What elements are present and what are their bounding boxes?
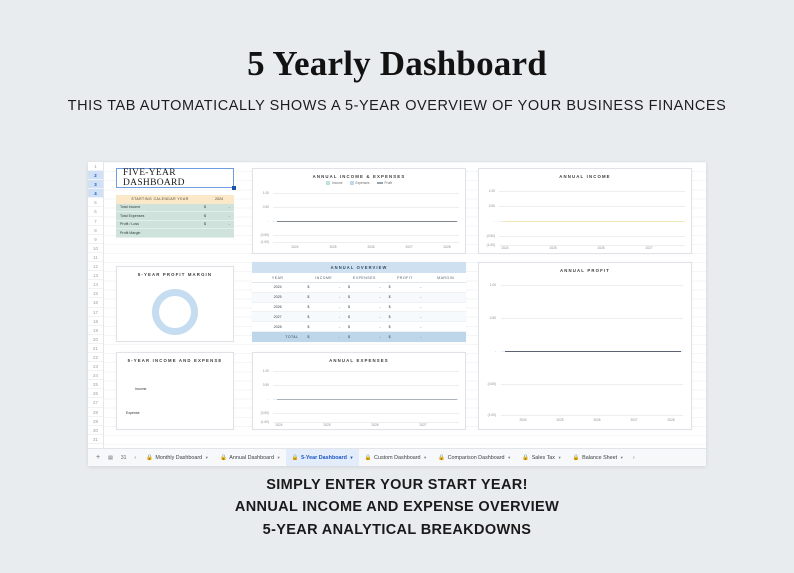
page-root: 5 Yearly Dashboard THIS TAB AUTOMATICALL… (0, 44, 794, 573)
cell-expenses: $- (344, 285, 385, 289)
lock-icon: 🔒 (146, 455, 153, 461)
cell-value: - (350, 305, 381, 309)
dashboard-title-cell[interactable]: FIVE-YEAR DASHBOARD (116, 168, 234, 188)
footer-callouts: SIMPLY ENTER YOUR START YEAR! ANNUAL INC… (0, 474, 794, 541)
x-tick-label: 2024 (275, 423, 282, 427)
cell-expenses: $- (344, 295, 385, 299)
summary-row-value: - (216, 214, 234, 218)
cell-year: 2026 (252, 305, 303, 309)
table-row: Total Income $ - (116, 204, 234, 213)
sheet-tab-bar[interactable]: + ▤ 31 ‹ 🔒 Monthly Dashboard ▾ 🔒 Annual … (88, 448, 706, 466)
sheet-tab-label: Comparison Dashboard (448, 455, 505, 461)
chart-plot-area: 1.00 0.50 - (0.50) (1.00) 2024 2025 2026… (253, 169, 465, 253)
cell-value: - (391, 295, 422, 299)
cell-year: 2027 (252, 315, 303, 319)
cell-value: - (391, 305, 422, 309)
sheet-tab-label: Custom Dashboard (374, 455, 420, 461)
all-sheets-icon[interactable]: ▤ (104, 455, 117, 461)
row-number[interactable]: 6 (88, 207, 103, 216)
table-row: Profit Margin (116, 229, 234, 238)
chart-card-income-expense[interactable]: 5-YEAR INCOME AND EXPENSE Income Expense (116, 352, 234, 430)
gridline (273, 422, 459, 423)
gridline (273, 207, 459, 208)
chart-title: 5-YEAR PROFIT MARGIN (117, 267, 233, 277)
scroll-left-icon[interactable]: ‹ (130, 455, 140, 461)
y-tick-label: (0.50) (481, 234, 495, 238)
table-header-row: YEAR INCOME EXPENSES PROFIT MARGIN (252, 273, 466, 283)
cell-income: $- (303, 315, 344, 319)
cell-profit: $- (385, 315, 426, 319)
cell-value: - (350, 315, 381, 319)
cell-total-label: TOTAL (252, 335, 303, 339)
x-tick-label: 2026 (371, 423, 378, 427)
row-number[interactable]: 17 (88, 308, 103, 317)
y-tick-label: 0.50 (482, 316, 496, 320)
y-tick-label: (0.50) (255, 411, 269, 415)
scroll-right-icon[interactable]: › (629, 455, 639, 461)
footer-line-3: 5-YEAR ANALYTICAL BREAKDOWNS (0, 519, 794, 541)
spreadsheet-body: 1234567891011121314151617181920212223242… (88, 162, 706, 448)
row-number[interactable]: 14 (88, 280, 103, 289)
cell-income: $- (303, 295, 344, 299)
chevron-down-icon[interactable]: ▾ (277, 455, 279, 461)
column-header-income: INCOME (303, 273, 344, 282)
add-sheet-icon[interactable]: + (92, 454, 104, 461)
row-number[interactable]: 7 (88, 217, 103, 226)
row-number[interactable]: 25 (88, 380, 103, 389)
lock-icon: 🔒 (438, 455, 445, 461)
cell-value: - (391, 315, 422, 319)
lock-icon: 🔒 (220, 455, 227, 461)
row-number[interactable]: 18 (88, 317, 103, 326)
sheet-tab-label: 5-Year Dashboard (301, 455, 347, 461)
spreadsheet-window: 1234567891011121314151617181920212223242… (88, 162, 706, 466)
page-title: 5 Yearly Dashboard (0, 44, 794, 84)
row-number[interactable]: 5 (88, 198, 103, 207)
column-header-profit: PROFIT (385, 273, 426, 282)
cell-value: - (350, 285, 381, 289)
y-tick-label: 0.50 (255, 205, 269, 209)
chart-plot-area: 1.00 0.50 - (0.50) (1.00) 2024 2025 2026… (479, 169, 691, 253)
x-tick-label: 2027 (645, 246, 652, 250)
cell-value: - (391, 335, 422, 339)
sheet-tab-comparison-dashboard[interactable]: 🔒 Comparison Dashboard ▾ (432, 449, 516, 467)
x-tick-label: 2025 (329, 245, 336, 249)
row-number[interactable]: 16 (88, 298, 103, 307)
sheet-tab-label: Annual Dashboard (229, 455, 274, 461)
row-number[interactable]: 22 (88, 353, 103, 362)
series-line-profit (505, 351, 681, 352)
row-number[interactable]: 26 (88, 389, 103, 398)
row-number[interactable]: 4 (88, 189, 103, 198)
gridline (273, 385, 459, 386)
series-line-income (503, 221, 683, 222)
row-number[interactable]: 15 (88, 289, 103, 298)
cell-value: - (350, 335, 381, 339)
row-header-gutter[interactable]: 1234567891011121314151617181920212223242… (88, 162, 104, 448)
sheet-tab-label: Monthly Dashboard (155, 455, 202, 461)
chart-card-profit-margin[interactable]: 5-YEAR PROFIT MARGIN (116, 266, 234, 342)
chart-card-annual-profit[interactable]: ANNUAL PROFIT 1.00 0.50 - (0.50) (1.00) (478, 262, 692, 430)
x-tick-label: 2027 (419, 423, 426, 427)
row-number[interactable]: 23 (88, 362, 103, 371)
y-tick-label: 1.00 (481, 189, 495, 193)
table-row: Total Expenses $ - (116, 212, 234, 221)
summary-row-currency: $ (204, 222, 216, 226)
sheet-grid[interactable]: FIVE-YEAR DASHBOARD STARTING CALENDAR YE… (104, 162, 706, 448)
summary-row-value: - (216, 205, 234, 209)
page-subtitle: THIS TAB AUTOMATICALLY SHOWS A 5-YEAR OV… (0, 98, 794, 114)
summary-row-value: - (216, 222, 234, 226)
y-tick-label: (1.00) (482, 413, 496, 417)
gridline (499, 191, 685, 192)
cell-value: - (309, 335, 340, 339)
x-tick-label: 2026 (367, 245, 374, 249)
cell-value: - (350, 325, 381, 329)
table-total-row: TOTAL $- $- $- (252, 332, 466, 342)
cell-profit: $- (385, 305, 426, 309)
y-tick-label: 1.00 (255, 369, 269, 373)
x-tick-label: 2027 (630, 418, 637, 422)
column-header-expenses: EXPENSES (344, 273, 385, 282)
cell-profit: $- (385, 285, 426, 289)
row-number[interactable]: 28 (88, 408, 103, 417)
cell-profit: $- (385, 295, 426, 299)
cell-value: - (309, 285, 340, 289)
x-tick-label: 2028 (667, 418, 674, 422)
sheet-tab-sales-tax[interactable]: 🔒 Sales Tax ▾ (516, 449, 566, 467)
y-tick-label: - (481, 219, 495, 223)
lock-icon: 🔒 (573, 455, 580, 461)
summary-row-currency: $ (204, 214, 216, 218)
table-row: 2027 $- $- $- (252, 312, 466, 322)
sheet-tab-custom-dashboard[interactable]: 🔒 Custom Dashboard ▾ (359, 449, 433, 467)
footer-line-1: SIMPLY ENTER YOUR START YEAR! (0, 474, 794, 496)
row-number[interactable]: 31 (88, 435, 103, 444)
lock-icon: 🔒 (365, 455, 372, 461)
gridline (273, 413, 459, 414)
summary-row-currency: $ (204, 205, 216, 209)
lock-icon: 🔒 (292, 455, 299, 461)
x-tick-label: 2027 (405, 245, 412, 249)
y-tick-label: (1.00) (255, 240, 269, 244)
y-tick-label: - (255, 219, 269, 223)
cell-value: - (391, 285, 422, 289)
x-tick-label: 2024 (291, 245, 298, 249)
chevron-down-icon[interactable]: ▾ (206, 455, 208, 461)
gridline (499, 236, 685, 237)
summary-header-row: STARTING CALENDAR YEAR 2024 (116, 195, 234, 204)
x-tick-label: 2024 (519, 418, 526, 422)
cell-year: 2025 (252, 295, 303, 299)
cell-year: 2028 (252, 325, 303, 329)
x-tick-label: 2025 (556, 418, 563, 422)
chart-card-annual-income-expenses[interactable]: ANNUAL INCOME & EXPENSES Income Expenses (252, 168, 466, 254)
gridline (273, 235, 459, 236)
footer-line-2: ANNUAL INCOME AND EXPENSE OVERVIEW (0, 496, 794, 518)
row-number[interactable]: 8 (88, 226, 103, 235)
cell-expenses: $- (344, 305, 385, 309)
cell-value: - (350, 295, 381, 299)
x-tick-label: 2028 (443, 245, 450, 249)
chevron-down-icon[interactable]: ▾ (350, 455, 352, 461)
overview-table-inner: ANNUAL OVERVIEW YEAR INCOME EXPENSES PRO… (252, 262, 466, 342)
doughnut-ring (152, 289, 198, 335)
y-tick-label: 0.50 (481, 204, 495, 208)
gridline (499, 206, 685, 207)
table-row: Profit / Loss $ - (116, 221, 234, 230)
gridline (501, 285, 683, 286)
row-number[interactable]: 10 (88, 244, 103, 253)
row-number[interactable]: 20 (88, 335, 103, 344)
x-tick-label: 2026 (593, 418, 600, 422)
cell-profit: $- (385, 325, 426, 329)
y-tick-label: (0.50) (255, 233, 269, 237)
cell-value: - (309, 305, 340, 309)
y-tick-label: - (255, 397, 269, 401)
row-number[interactable]: 19 (88, 326, 103, 335)
summary-row-label: Total Expenses (116, 214, 204, 218)
summary-row-label: Total Income (116, 205, 204, 209)
x-tick-label: 2026 (597, 246, 604, 250)
gridline (273, 371, 459, 372)
bar-label-income: Income (135, 387, 146, 391)
row-number[interactable]: 2 (88, 171, 103, 180)
annual-overview-table[interactable]: ANNUAL OVERVIEW YEAR INCOME EXPENSES PRO… (252, 262, 466, 342)
row-number[interactable]: 21 (88, 344, 103, 353)
cell-year: 2024 (252, 285, 303, 289)
sheet-tab-5-year-dashboard[interactable]: 🔒 5-Year Dashboard ▾ (286, 449, 359, 467)
x-tick-label: 2025 (323, 423, 330, 427)
row-number[interactable]: 24 (88, 371, 103, 380)
row-number[interactable]: 13 (88, 271, 103, 280)
gridline (501, 415, 683, 416)
row-number[interactable]: 1 (88, 162, 103, 171)
y-tick-label: 1.00 (482, 283, 496, 287)
doughnut-chart (152, 289, 198, 335)
chevron-down-icon[interactable]: ▾ (621, 455, 623, 461)
row-number[interactable]: 9 (88, 235, 103, 244)
row-number[interactable]: 27 (88, 398, 103, 407)
summary-row-label: Profit / Loss (116, 222, 204, 226)
gridline (501, 384, 683, 385)
table-row: 2025 $- $- $- (252, 293, 466, 303)
table-row: 2026 $- $- $- (252, 303, 466, 313)
cell-income: $- (303, 325, 344, 329)
series-line-profit (277, 221, 457, 222)
overview-caption: ANNUAL OVERVIEW (252, 262, 466, 273)
summary-row-label: Profit Margin (116, 231, 204, 235)
cell-value: - (309, 325, 340, 329)
starting-year-value[interactable]: 2024 (204, 197, 234, 201)
starting-year-summary-table: STARTING CALENDAR YEAR 2024 Total Income… (116, 195, 234, 238)
row-number[interactable]: 12 (88, 262, 103, 271)
cell-expenses: $- (344, 325, 385, 329)
row-number[interactable]: 3 (88, 180, 103, 189)
sheet-tab-label: Balance Sheet (582, 455, 617, 461)
column-header-margin: MARGIN (425, 273, 466, 282)
chevron-down-icon[interactable]: ▾ (558, 455, 560, 461)
row-number[interactable]: 30 (88, 426, 103, 435)
chart-plot-area: 1.00 0.50 - (0.50) (1.00) 2024 2025 2026… (479, 263, 691, 429)
chevron-down-icon[interactable]: ▾ (508, 455, 510, 461)
table-row: 2028 $- $- $- (252, 322, 466, 332)
chart-title: 5-YEAR INCOME AND EXPENSE (117, 353, 233, 363)
cell-total-profit: $- (385, 335, 426, 339)
dashboard-title-text: FIVE-YEAR DASHBOARD (123, 168, 233, 188)
y-tick-label: 0.50 (255, 383, 269, 387)
cell-income: $- (303, 305, 344, 309)
chart-card-annual-expenses[interactable]: ANNUAL EXPENSES 1.00 0.50 - (0.50) (1.00… (252, 352, 466, 430)
sheet-tab-annual-dashboard[interactable]: 🔒 Annual Dashboard ▾ (214, 449, 286, 467)
bar-label-expense: Expense (126, 411, 140, 415)
x-tick-label: 2025 (549, 246, 556, 250)
chart-plot-area: 1.00 0.50 - (0.50) (1.00) 2024 2025 2026… (253, 353, 465, 429)
cell-expenses: $- (344, 315, 385, 319)
series-line-expenses (277, 399, 457, 400)
chevron-down-icon[interactable]: ▾ (424, 455, 426, 461)
cell-total-income: $- (303, 335, 344, 339)
sheet-count-label: 31 (117, 455, 131, 461)
y-tick-label: - (482, 349, 496, 353)
table-row: 2024 $- $- $- (252, 283, 466, 293)
selection-fill-handle[interactable] (232, 186, 236, 190)
y-tick-label: (1.00) (255, 420, 269, 424)
y-tick-label: (0.50) (482, 382, 496, 386)
chart-card-annual-income[interactable]: ANNUAL INCOME 1.00 0.50 - (0.50) (1.00) (478, 168, 692, 254)
gridline (273, 193, 459, 194)
y-tick-label: 1.00 (255, 191, 269, 195)
row-number[interactable]: 11 (88, 253, 103, 262)
gridline (499, 245, 685, 246)
x-tick-label: 2024 (501, 246, 508, 250)
column-header-year: YEAR (252, 273, 303, 282)
sheet-tab-balance-sheet[interactable]: 🔒 Balance Sheet ▾ (567, 449, 629, 467)
gridline (501, 318, 683, 319)
sheet-tab-label: Sales Tax (532, 455, 555, 461)
cell-income: $- (303, 285, 344, 289)
cell-total-expenses: $- (344, 335, 385, 339)
sheet-tab-monthly-dashboard[interactable]: 🔒 Monthly Dashboard ▾ (140, 449, 214, 467)
cell-value: - (391, 325, 422, 329)
cell-value: - (309, 295, 340, 299)
lock-icon: 🔒 (522, 455, 529, 461)
gridline (273, 242, 459, 243)
row-number[interactable]: 29 (88, 417, 103, 426)
cell-value: - (309, 315, 340, 319)
summary-header-label: STARTING CALENDAR YEAR (116, 197, 204, 201)
y-tick-label: (1.00) (481, 243, 495, 247)
